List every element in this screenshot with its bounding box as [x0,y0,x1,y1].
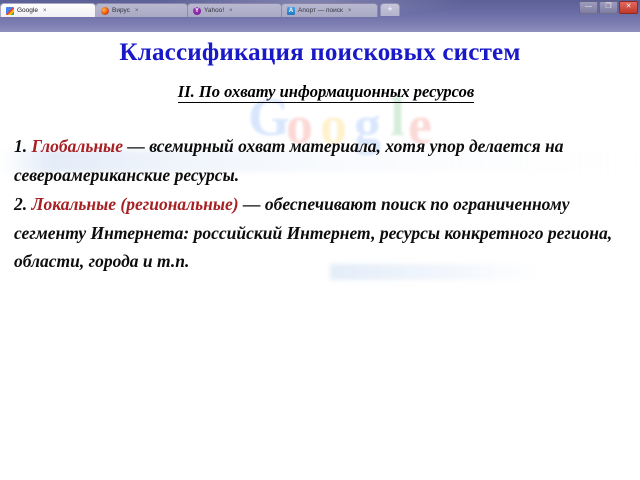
yahoo-favicon-icon: Y [193,7,201,15]
tab-close-icon[interactable]: × [135,8,139,14]
item-number: 1. [14,136,27,156]
browser-tab-yahoo[interactable]: Y Yahoo! × [187,3,282,17]
slide-canvas: G o o g l e Классификация поисковых сист… [0,32,640,480]
tab-label: Google [17,7,38,14]
browser-tab-google[interactable]: Google × [0,3,96,17]
browser-chrome: Google × Вирус × Y Yahoo! × A Апорт — по… [0,0,640,32]
list-item: 1. Глобальные — всемирный охват материал… [14,132,626,189]
tab-close-icon[interactable]: × [229,8,233,14]
tab-close-icon[interactable]: × [43,8,47,14]
item-dash: — [127,136,145,156]
tab-label: Апорт — поиск [298,7,343,14]
tab-label: Yahoo! [204,7,224,14]
tab-close-icon[interactable]: × [348,8,352,14]
item-dash: — [243,194,261,214]
item-term: Глобальные [32,136,123,156]
minimize-button[interactable]: — [579,1,598,14]
tab-label: Вирус [112,7,130,14]
close-window-button[interactable]: ✕ [619,1,638,14]
new-tab-button[interactable]: + [380,3,400,16]
maximize-button[interactable]: ❐ [599,1,618,14]
section-heading: II. По охвату информационных ресурсов [0,82,640,102]
classification-list: 1. Глобальные — всемирный охват материал… [0,132,640,276]
window-controls: — ❐ ✕ [579,1,638,14]
browser-tab-virus[interactable]: Вирус × [95,3,188,17]
item-term: Локальные (региональные) [32,194,239,214]
browser-tab-aport[interactable]: A Апорт — поиск × [281,3,378,17]
page-title: Классификация поисковых систем [0,32,640,68]
firefox-favicon-icon [101,7,109,15]
google-favicon-icon [6,7,14,15]
list-item: 2. Локальные (региональные) — обеспечива… [14,190,626,276]
tab-strip: Google × Вирус × Y Yahoo! × A Апорт — по… [0,2,400,17]
item-number: 2. [14,194,27,214]
section-heading-text: II. По охвату информационных ресурсов [178,82,474,103]
aport-favicon-icon: A [287,7,295,15]
